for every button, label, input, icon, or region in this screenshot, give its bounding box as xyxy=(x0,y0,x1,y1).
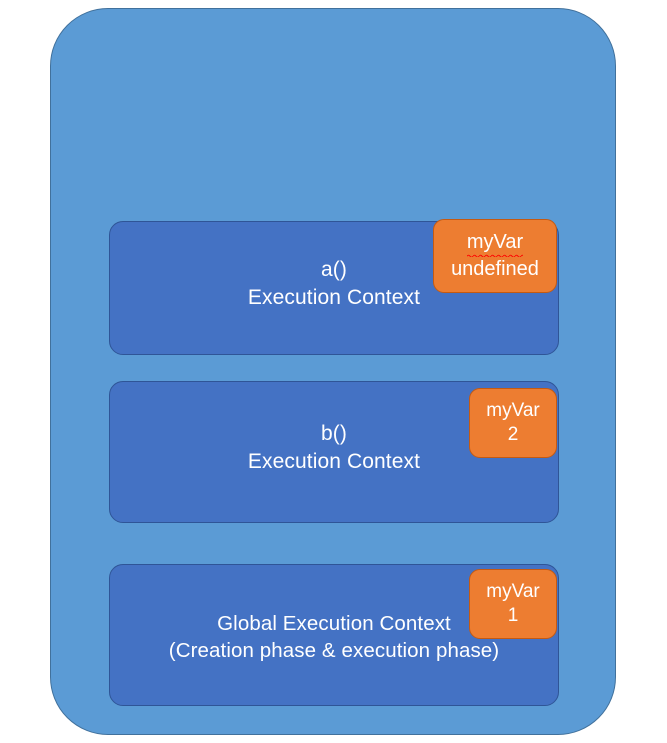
execution-context-label-a: a() Execution Context xyxy=(240,256,428,311)
variable-value-global: 1 xyxy=(508,604,519,628)
execution-context-label-b: b() Execution Context xyxy=(240,420,428,475)
variable-name-b: myVar xyxy=(486,399,539,423)
variable-badge-global: myVar 1 xyxy=(469,569,557,639)
variable-value-b: 2 xyxy=(508,423,519,447)
variable-badge-b: myVar 2 xyxy=(469,388,557,458)
variable-name-global: myVar xyxy=(486,580,539,604)
variable-name-a: myVar xyxy=(467,230,523,257)
execution-context-label-global: Global Execution Context (Creation phase… xyxy=(161,610,507,664)
execution-stack-container: a() Execution Context myVar undefined b(… xyxy=(50,8,616,735)
variable-badge-a: myVar undefined xyxy=(433,219,557,293)
variable-value-a: undefined xyxy=(451,257,539,282)
